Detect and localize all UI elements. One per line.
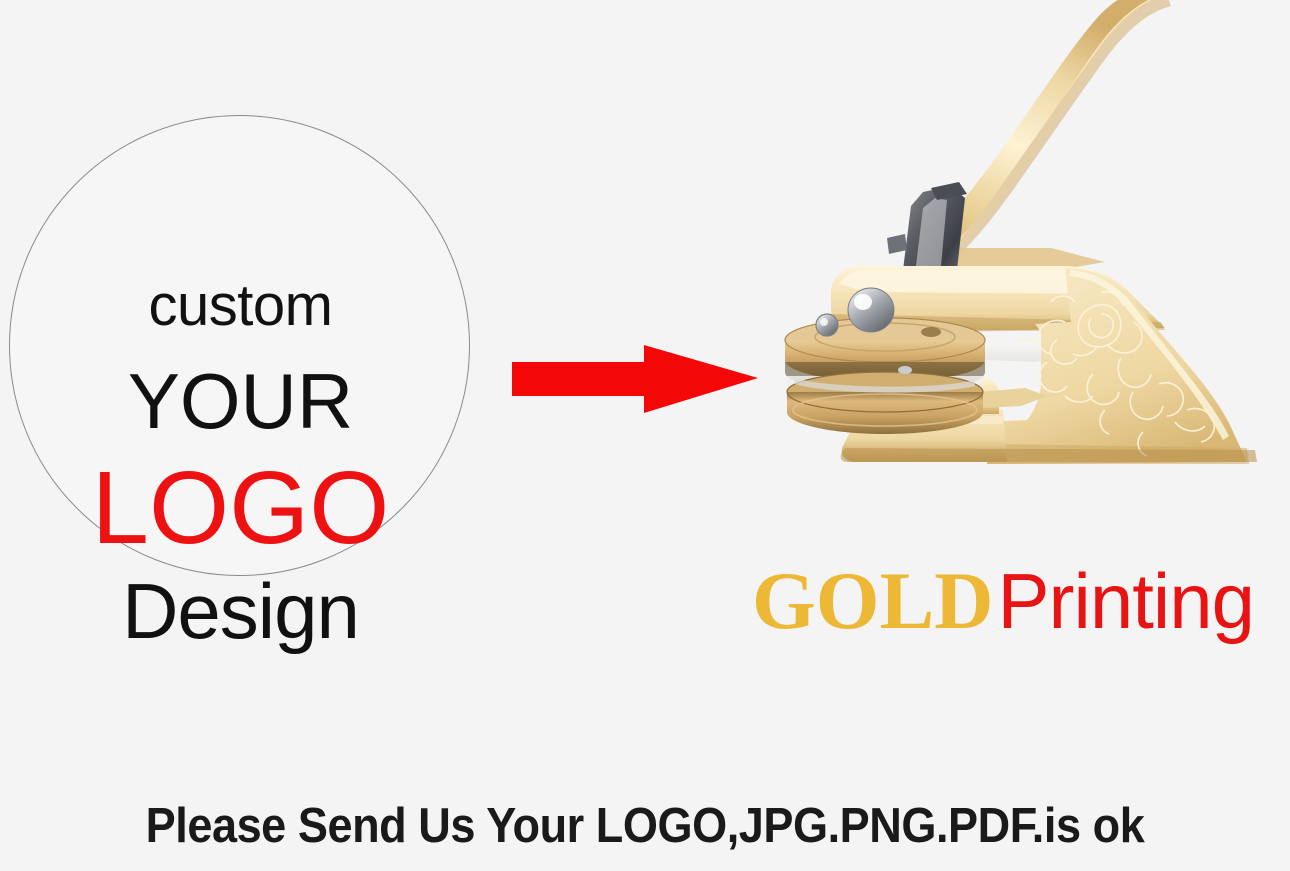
promo-image-canvas: custom YOUR LOGO Design [0, 0, 1290, 871]
custom-logo-circle: custom YOUR LOGO Design [9, 115, 470, 576]
gold-embosser-seal [735, 0, 1290, 492]
right-arrow [508, 340, 764, 418]
submission-instructions: Please Send Us Your LOGO,JPG.PNG.PDF.is … [52, 802, 1239, 851]
logo-line-logo: LOGO [10, 456, 471, 559]
gold-embosser-illustration [735, 0, 1290, 492]
wordmark-printing-text: Printing [997, 557, 1253, 645]
die-discs [785, 318, 985, 434]
logo-line-your: YOUR [10, 362, 471, 440]
gold-printing-wordmark: GOLDPrinting [752, 560, 1254, 642]
logo-line-design: Design [10, 572, 471, 650]
pivot-ball-knob [848, 288, 894, 332]
logo-line-custom: custom [10, 277, 471, 335]
die-pin [898, 366, 912, 374]
right-arrow-icon [508, 340, 764, 418]
wordmark-gold-text: GOLD [752, 555, 993, 646]
rivet-pin [816, 314, 838, 336]
